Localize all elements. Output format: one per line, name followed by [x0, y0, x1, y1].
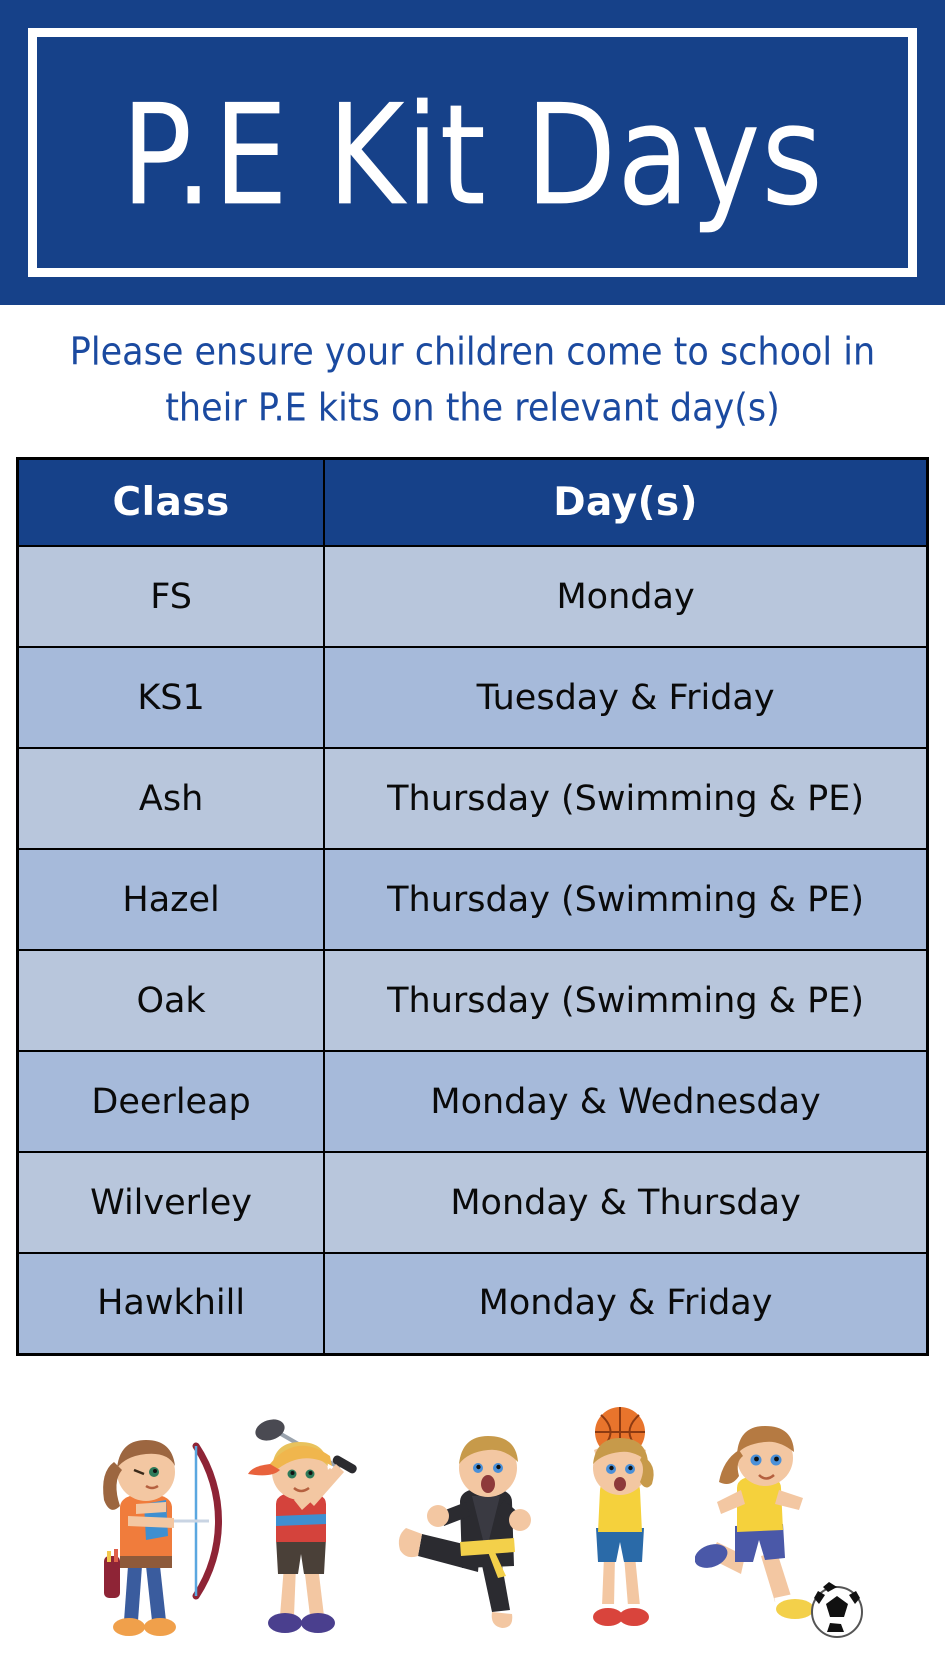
table-row: FS Monday: [18, 546, 928, 647]
sports-kids-illustration: [0, 1382, 945, 1652]
table-row: Oak Thursday (Swimming & PE): [18, 950, 928, 1051]
cell-days: Monday: [324, 546, 927, 647]
cell-class: Deerleap: [18, 1051, 325, 1152]
pe-kit-table-container: Class Day(s) FS Monday KS1 Tuesday & Fri…: [16, 457, 929, 1356]
archery-girl-icon: [76, 1416, 226, 1646]
cell-class: KS1: [18, 647, 325, 748]
cell-days: Thursday (Swimming & PE): [324, 849, 927, 950]
column-header-days: Day(s): [324, 458, 927, 546]
cell-class: Wilverley: [18, 1152, 325, 1253]
cell-class: Oak: [18, 950, 325, 1051]
cell-days: Monday & Thursday: [324, 1152, 927, 1253]
basketball-boy-icon: [554, 1406, 689, 1646]
cell-class: Hazel: [18, 849, 325, 950]
golf-boy-icon: [232, 1416, 382, 1646]
cell-class: Hawkhill: [18, 1253, 325, 1354]
subtitle-instruction: Please ensure your children come to scho…: [0, 305, 945, 447]
cell-class: Ash: [18, 748, 325, 849]
pe-kit-days-table: Class Day(s) FS Monday KS1 Tuesday & Fri…: [16, 457, 929, 1356]
page-title: P.E Kit Days: [121, 85, 824, 224]
table-body: FS Monday KS1 Tuesday & Friday Ash Thurs…: [18, 546, 928, 1354]
cell-days: Monday & Friday: [324, 1253, 927, 1354]
table-row: Hawkhill Monday & Friday: [18, 1253, 928, 1354]
table-row: Wilverley Monday & Thursday: [18, 1152, 928, 1253]
table-row: Hazel Thursday (Swimming & PE): [18, 849, 928, 950]
soccer-girl-icon: [695, 1406, 870, 1646]
table-row: KS1 Tuesday & Friday: [18, 647, 928, 748]
karate-boy-icon: [388, 1416, 548, 1646]
column-header-class: Class: [18, 458, 325, 546]
cell-days: Tuesday & Friday: [324, 647, 927, 748]
cell-days: Thursday (Swimming & PE): [324, 950, 927, 1051]
page-banner: P.E Kit Days: [0, 0, 945, 305]
table-header: Class Day(s): [18, 458, 928, 546]
table-row: Ash Thursday (Swimming & PE): [18, 748, 928, 849]
cell-class: FS: [18, 546, 325, 647]
cell-days: Monday & Wednesday: [324, 1051, 927, 1152]
table-row: Deerleap Monday & Wednesday: [18, 1051, 928, 1152]
table-header-row: Class Day(s): [18, 458, 928, 546]
cell-days: Thursday (Swimming & PE): [324, 748, 927, 849]
